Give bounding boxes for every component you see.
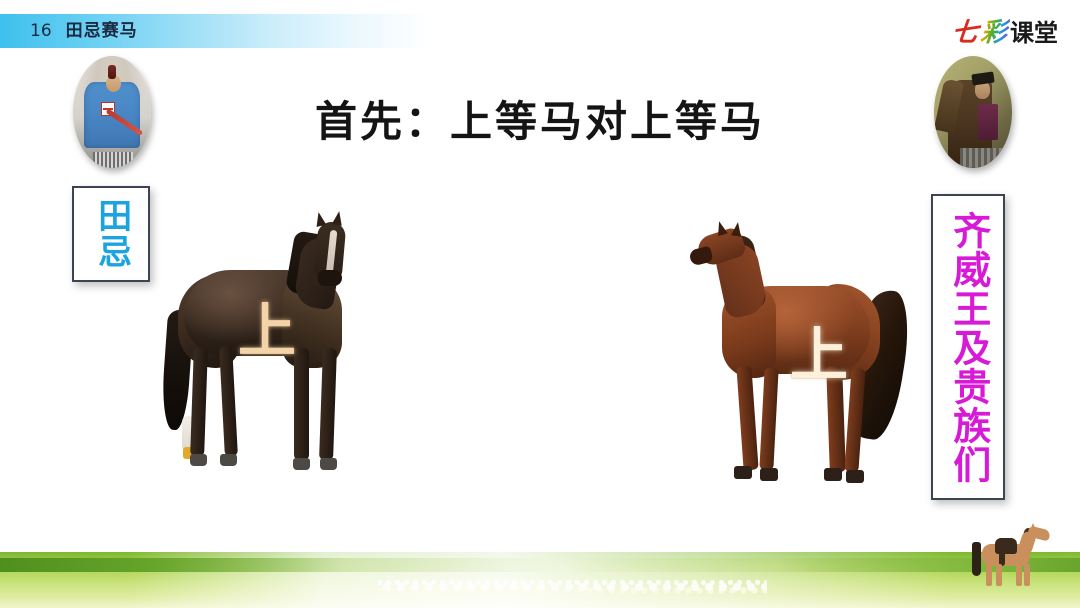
horse-hoof bbox=[846, 470, 864, 483]
slide-canvas: 16田忌赛马 七 彩 课堂 首先：上等马对上等马 田忌 齐威王及贵族们 bbox=[0, 0, 1080, 608]
mini-horse-leg bbox=[996, 564, 1002, 586]
lesson-heading: 16田忌赛马 bbox=[30, 16, 138, 46]
meadow-footer bbox=[0, 542, 1080, 608]
lesson-number: 16 bbox=[30, 21, 52, 41]
horse-leg bbox=[736, 366, 758, 471]
portrait-qiweiwang bbox=[934, 56, 1012, 168]
horse-hoof bbox=[293, 458, 310, 470]
portrait-hat bbox=[108, 65, 116, 79]
mini-horse-leg bbox=[1016, 564, 1022, 586]
lesson-title: 田忌赛马 bbox=[66, 21, 138, 41]
horse-image-left bbox=[178, 218, 378, 488]
horse-hoof bbox=[734, 466, 752, 479]
horse-hoof bbox=[824, 468, 842, 481]
portrait-skirt bbox=[960, 148, 1002, 168]
meadow-ridge bbox=[0, 558, 1080, 572]
page-title: 首先：上等马对上等马 bbox=[0, 88, 1080, 149]
mini-horse-icon bbox=[968, 526, 1054, 588]
name-box-qiweiwang: 齐威王及贵族们 bbox=[931, 194, 1005, 500]
brand-char-ketang: 课堂 bbox=[1010, 13, 1058, 48]
horse-leg bbox=[219, 346, 238, 457]
horse-hoof bbox=[220, 454, 237, 466]
brand-char-cai: 彩 bbox=[977, 12, 1011, 49]
horse-ear bbox=[314, 211, 327, 227]
horse-hoof bbox=[320, 458, 337, 470]
mini-horse-ear bbox=[1030, 523, 1036, 530]
horse-hoof bbox=[190, 454, 207, 466]
horse-leg bbox=[319, 348, 337, 460]
horse-image-right bbox=[688, 226, 918, 498]
horse-leg bbox=[190, 348, 208, 456]
horse-ear bbox=[332, 210, 344, 226]
mini-horse-tail bbox=[972, 542, 981, 576]
name-box-tianji: 田忌 bbox=[72, 186, 150, 282]
meadow-flowers bbox=[378, 576, 767, 594]
name-label-qiweiwang: 齐威王及贵族们 bbox=[948, 211, 988, 484]
brand-logo: 七 彩 课堂 bbox=[950, 12, 1060, 48]
mini-horse-leg bbox=[1024, 564, 1030, 586]
horse-leg bbox=[826, 366, 846, 472]
mini-horse-leg bbox=[986, 564, 992, 586]
portrait-tianji bbox=[73, 56, 151, 168]
name-label-tianji: 田忌 bbox=[93, 198, 128, 270]
horse-hoof bbox=[760, 468, 778, 481]
horse-leg bbox=[294, 348, 309, 460]
horse-leg bbox=[759, 368, 778, 471]
portrait-inner-garment bbox=[978, 104, 998, 140]
horse-ear bbox=[731, 221, 743, 236]
brand-char-qi: 七 bbox=[950, 12, 980, 49]
portrait-skirt bbox=[93, 152, 133, 168]
horse-muzzle bbox=[318, 270, 342, 286]
saddle-icon bbox=[995, 538, 1017, 554]
